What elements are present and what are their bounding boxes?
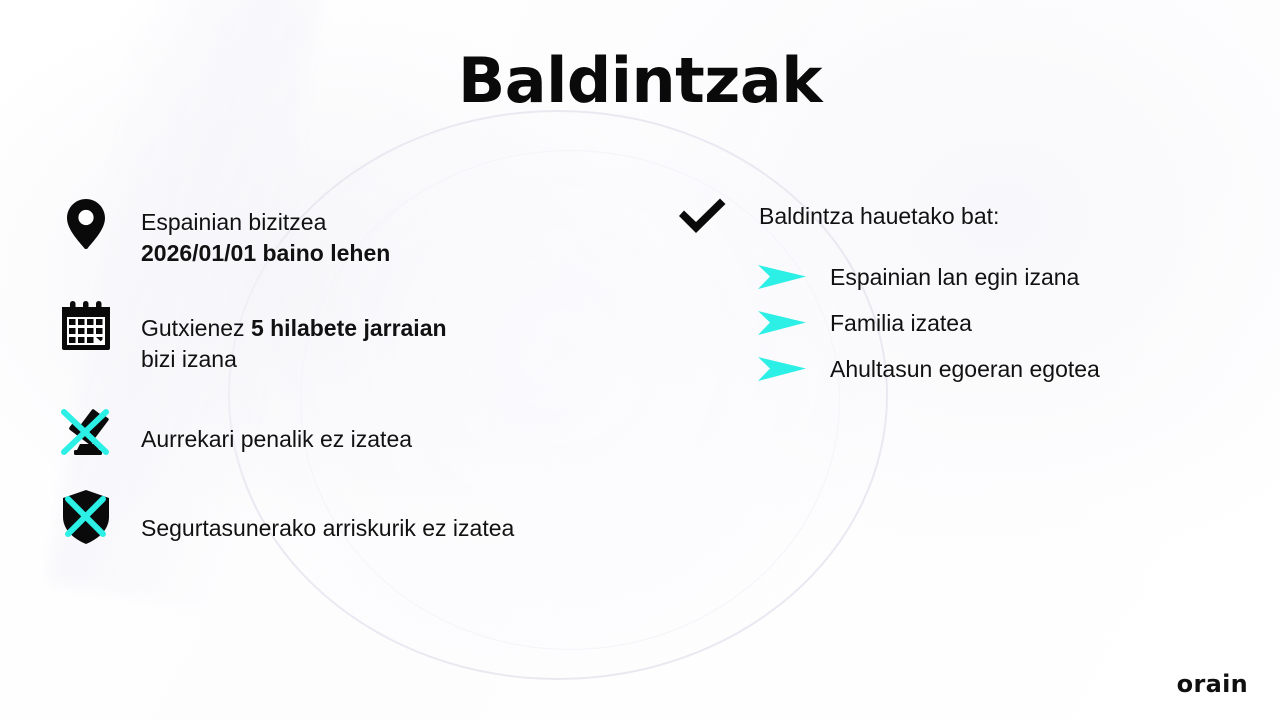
list-item-duration: Gutxienez 5 hilabete jarraian bizi izana: [60, 299, 640, 375]
duration-bold: 5 hilabete jarraian: [251, 315, 447, 341]
duration-suffix: bizi izana: [141, 346, 237, 372]
no-security-risk-text: Segurtasunerako arriskurik ez izatea: [112, 489, 514, 544]
list-item-residence: Espainian bizitzea 2026/01/01 baino lehe…: [60, 196, 640, 269]
duration-prefix: Gutxienez: [141, 315, 251, 341]
conditions-header-label: Baldintza hauetako bat:: [728, 196, 999, 232]
no-criminal-record-text: Aurrekari penalik ez izatea: [112, 403, 412, 455]
brand-logo: orain: [1177, 670, 1248, 698]
family-label: Familia izatea: [808, 308, 972, 338]
arrow-right-icon: [756, 308, 808, 338]
list-item-vulnerability: Ahultasun egoeran egotea: [676, 354, 1236, 384]
list-item-family: Familia izatea: [676, 308, 1236, 338]
arrow-right-icon: [756, 262, 808, 292]
arrow-right-icon: [756, 354, 808, 384]
list-item-duration-text: Gutxienez 5 hilabete jarraian bizi izana: [112, 299, 447, 375]
shield-crossed-out-icon: [60, 489, 112, 545]
list-item-worked-in-spain: Espainian lan egin izana: [676, 262, 1236, 292]
gavel-crossed-out-icon: [60, 403, 112, 459]
page-title: Baldintzak: [0, 48, 1280, 113]
calendar-icon: [60, 299, 112, 355]
list-item-no-security-risk: Segurtasunerako arriskurik ez izatea: [60, 489, 640, 545]
requirements-left-column: Espainian bizitzea 2026/01/01 baino lehe…: [60, 196, 640, 545]
conditions-header: Baldintza hauetako bat:: [676, 196, 1236, 236]
slide-canvas: Baldintzak Espainian bizitzea 2026/01/01…: [0, 0, 1280, 720]
vulnerability-label: Ahultasun egoeran egotea: [808, 354, 1100, 384]
residence-line-1: Espainian bizitzea: [141, 209, 326, 235]
list-item-no-criminal-record: Aurrekari penalik ez izatea: [60, 403, 640, 459]
conditions-right-column: Baldintza hauetako bat: Espainian lan eg…: [676, 196, 1236, 400]
checkmark-icon: [676, 196, 728, 236]
list-item-residence-text: Espainian bizitzea 2026/01/01 baino lehe…: [112, 196, 390, 269]
residence-line-2: 2026/01/01 baino lehen: [141, 240, 390, 266]
worked-in-spain-label: Espainian lan egin izana: [808, 262, 1079, 292]
location-pin-icon: [60, 196, 112, 252]
